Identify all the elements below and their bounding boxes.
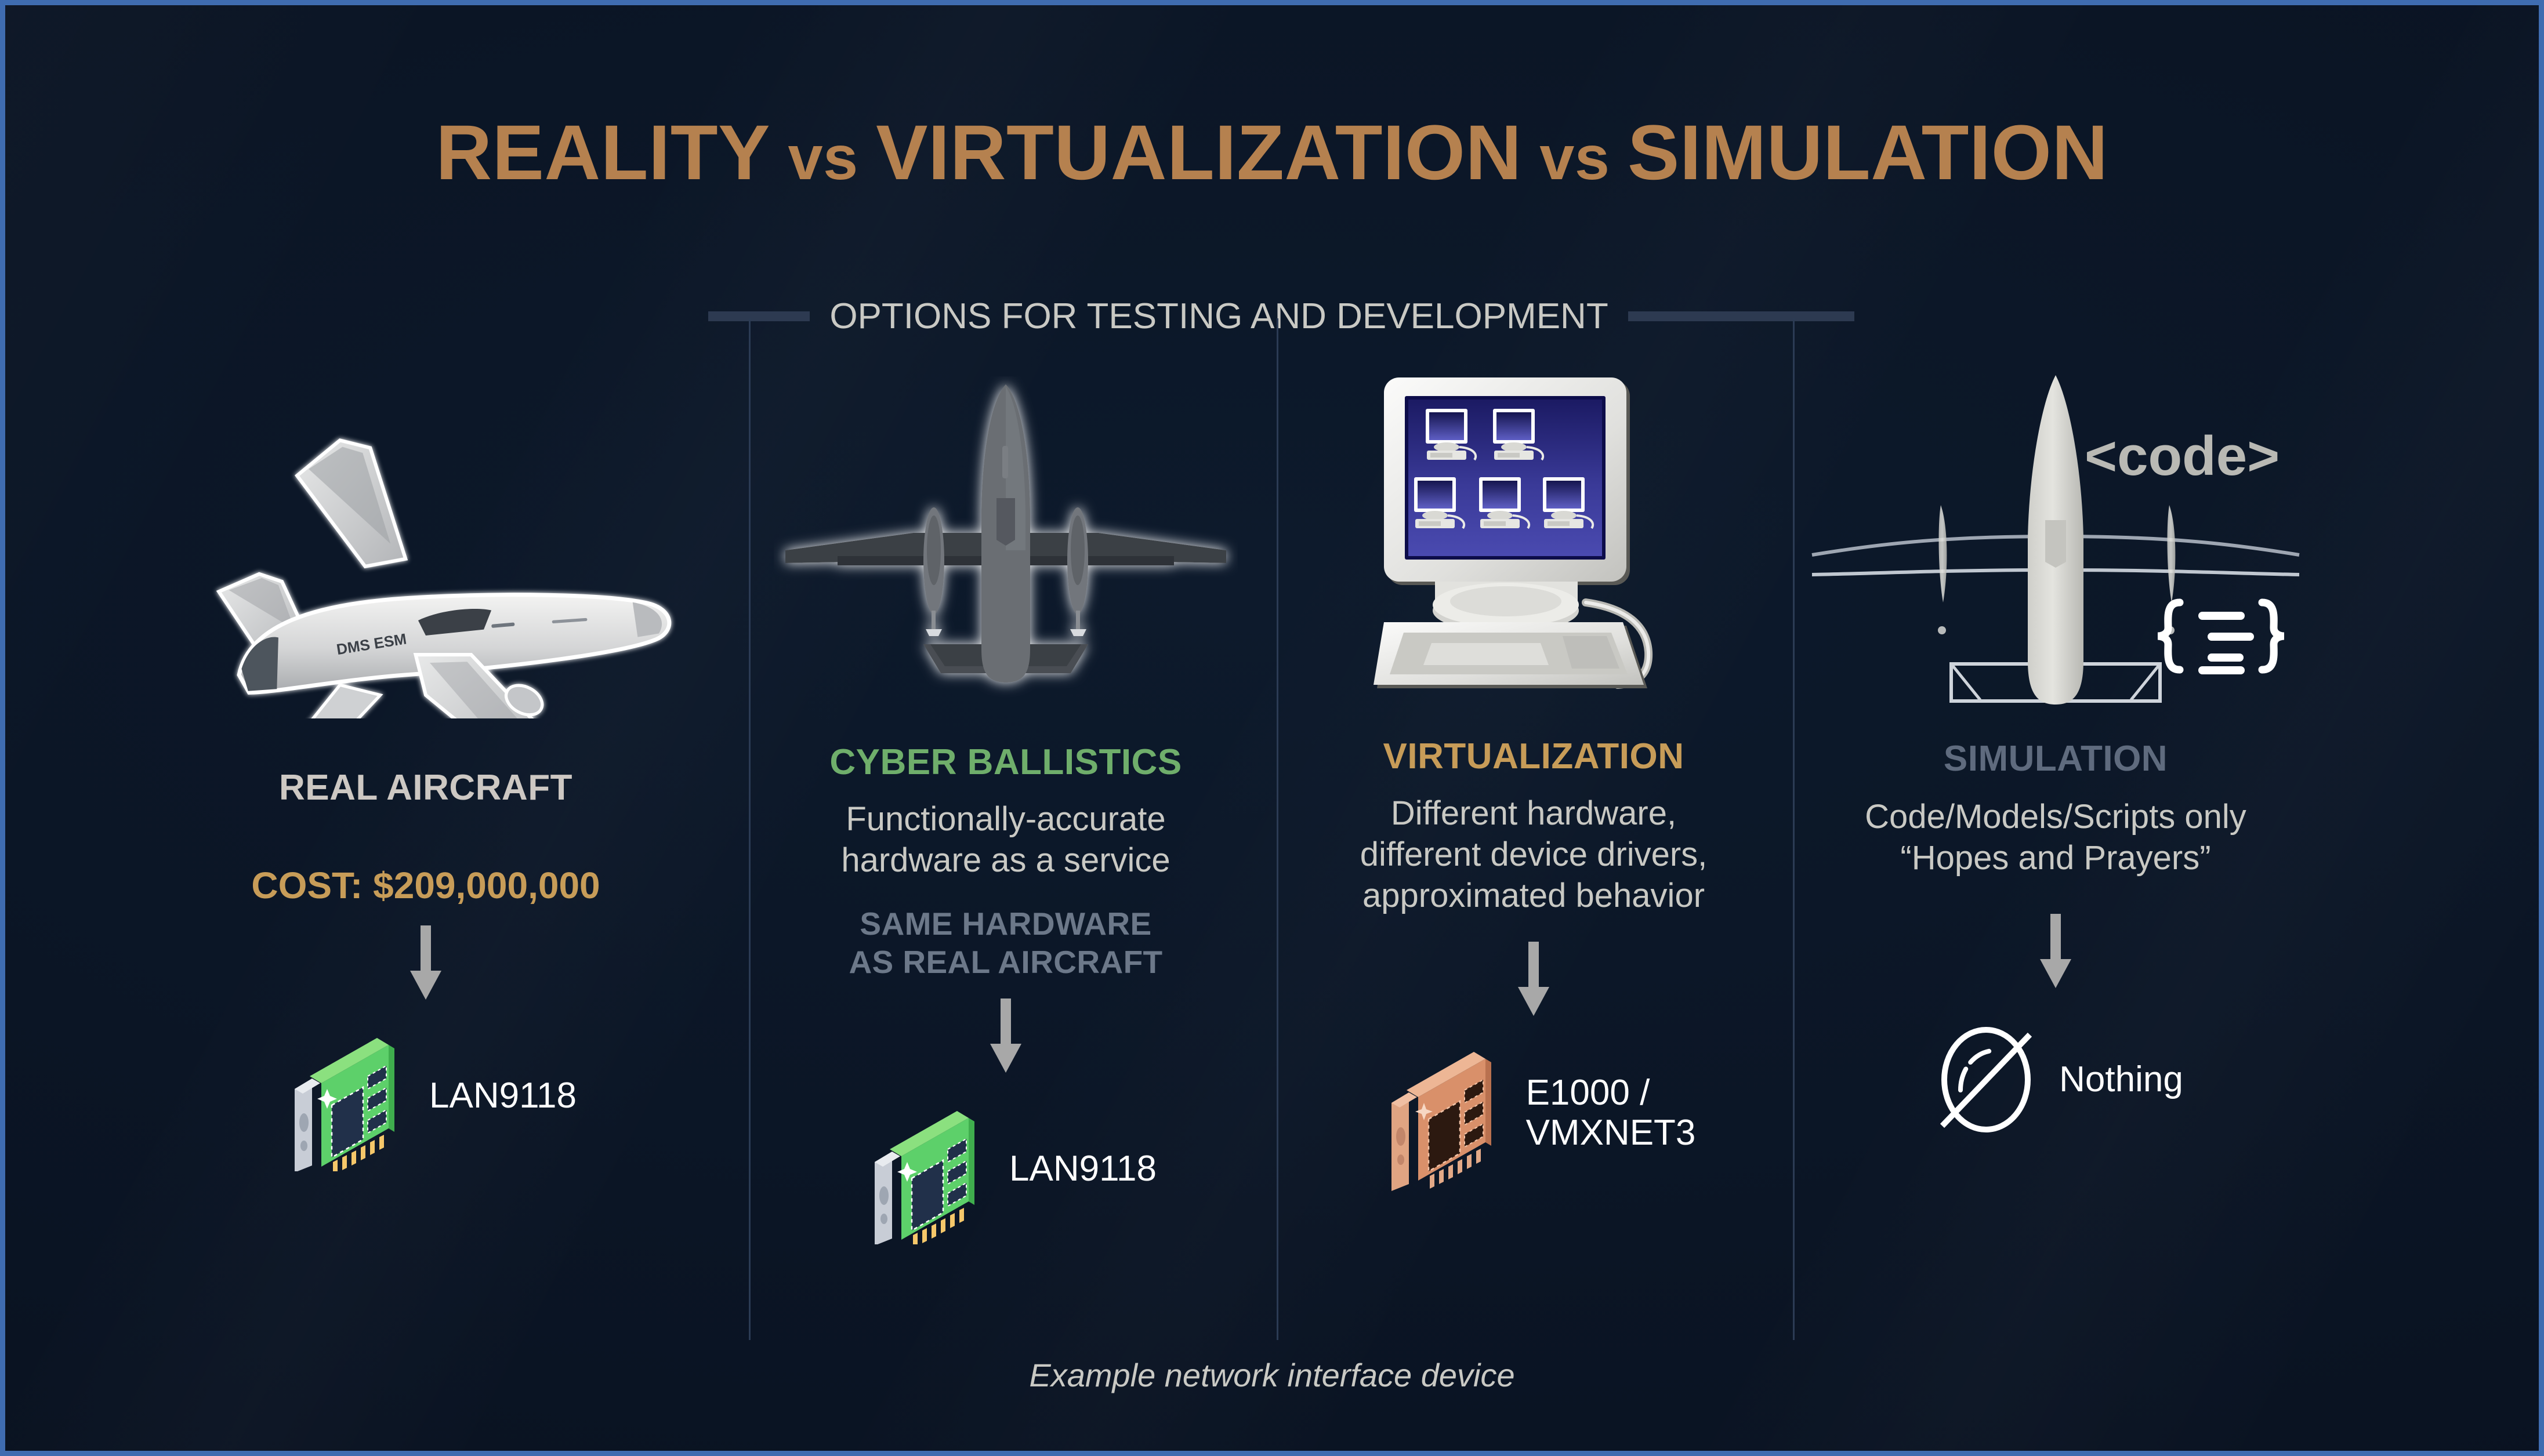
column-body-virtualization: Different hardware, different device dri…	[1360, 793, 1708, 916]
column-simulation: <code> SIMULATION Code/Models/Scripts on…	[1803, 353, 2308, 1350]
device-row-cyber-ballistics: LAN9118	[855, 1094, 1157, 1244]
page-title: REALITY vs VIRTUALIZATION vs SIMULATION	[5, 108, 2539, 197]
title-segment-simulation: SIMULATION	[1628, 110, 2108, 196]
column-virtualization: VIRTUALIZATION Different hardware, diffe…	[1281, 353, 1786, 1350]
down-arrow-icon	[1513, 942, 1554, 1017]
device-label-virtualization: E1000 / VMXNET3	[1526, 1073, 1696, 1153]
orange-network-card-icon	[1372, 1034, 1511, 1191]
device-row-reality: LAN9118	[275, 1021, 577, 1171]
cyber-ballistics-artwork	[753, 353, 1258, 724]
simulation-artwork: <code>	[1803, 353, 2308, 724]
title-vs-1: vs	[770, 122, 876, 193]
title-segment-virtualization: VIRTUALIZATION	[876, 110, 1522, 196]
crt-monitor-virtual-machines-icon	[1354, 371, 1713, 707]
device-row-virtualization: E1000 / VMXNET3	[1372, 1034, 1696, 1191]
column-cyber-ballistics: CYBER BALLISTICS Functionally-accurate h…	[753, 353, 1258, 1350]
green-network-card-icon	[855, 1094, 994, 1244]
down-arrow-icon	[985, 998, 1026, 1074]
column-divider-2	[1277, 318, 1278, 1340]
column-body-simulation: Code/Models/Scripts only “Hopes and Pray…	[1865, 797, 2246, 879]
subtitle-rule-right	[1628, 311, 1854, 321]
column-divider-1	[749, 318, 751, 1340]
column-heading-reality: REAL AIRCRAFT	[279, 767, 572, 808]
down-arrow-icon	[2035, 914, 2076, 989]
subtitle-rule-left	[708, 311, 810, 321]
subtitle-text: OPTIONS FOR TESTING AND DEVELOPMENT	[810, 296, 1628, 337]
wireframe-aircraft-with-code-icon: <code>	[1806, 371, 2305, 707]
real-aircraft-artwork: DMS ESM	[173, 353, 678, 724]
down-arrow-icon	[405, 925, 446, 1001]
aircraft-silhouette-topview-icon	[774, 376, 1238, 701]
title-vs-2: vs	[1522, 122, 1628, 193]
slide-canvas: REALITY vs VIRTUALIZATION vs SIMULATION …	[0, 0, 2544, 1456]
column-heading-virtualization: VIRTUALIZATION	[1383, 736, 1684, 777]
device-label-reality: LAN9118	[429, 1076, 577, 1116]
title-segment-reality: REALITY	[436, 110, 770, 196]
virtualization-artwork	[1281, 353, 1786, 724]
subtitle-band: OPTIONS FOR TESTING AND DEVELOPMENT	[777, 293, 1786, 339]
code-braces-icon	[2158, 602, 2284, 674]
footer-caption: Example network interface device	[5, 1356, 2539, 1394]
column-note-cyber-ballistics: SAME HARDWARE AS REAL AIRCRAFT	[849, 905, 1162, 981]
device-label-simulation: Nothing	[2059, 1059, 2183, 1099]
null-empty-set-icon	[1928, 1022, 2044, 1138]
device-row-simulation: Nothing	[1928, 1022, 2183, 1138]
green-network-card-icon	[275, 1021, 414, 1171]
column-heading-cyber-ballistics: CYBER BALLISTICS	[829, 742, 1182, 783]
real-aircraft-photo-icon: DMS ESM	[173, 359, 678, 718]
device-label-cyber-ballistics: LAN9118	[1009, 1149, 1157, 1189]
column-body-cyber-ballistics: Functionally-accurate hardware as a serv…	[841, 799, 1170, 881]
cost-value: COST: $209,000,000	[251, 864, 600, 907]
code-tag-text: <code>	[2085, 425, 2280, 487]
column-divider-3	[1793, 318, 1795, 1340]
column-reality: DMS ESM REAL AIRCRAFT COST: $209,000,000	[173, 353, 678, 1350]
column-heading-simulation: SIMULATION	[1944, 738, 2168, 779]
